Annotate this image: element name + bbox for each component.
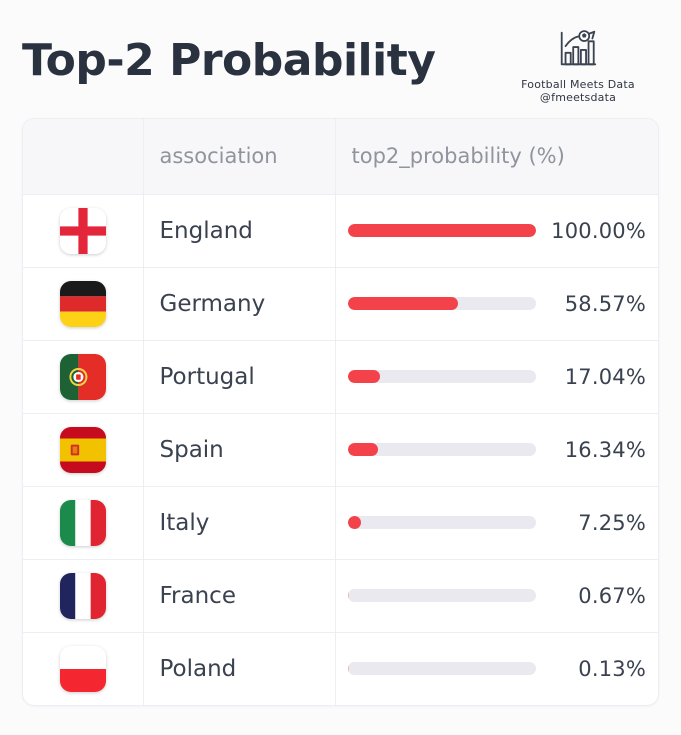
- column-header-flag: [23, 119, 143, 194]
- probability-table-container: association top2_probability (%) England…: [22, 118, 659, 706]
- flag-france-icon: [60, 573, 106, 619]
- table-row: Spain 16.34%: [23, 413, 659, 486]
- probability-bar-fill: [348, 589, 349, 602]
- brand-block: Football Meets Data @fmeetsdata: [503, 22, 653, 104]
- cell-association: Spain: [143, 413, 335, 486]
- probability-value: 0.67%: [548, 584, 647, 608]
- probability-value: 16.34%: [548, 438, 647, 462]
- cell-association: Germany: [143, 267, 335, 340]
- table-body: England 100.00% Germany 58.57%: [23, 194, 659, 705]
- probability-bar-fill: [348, 224, 536, 237]
- probability-bar-fill: [348, 370, 380, 383]
- cell-probability: 16.34%: [335, 413, 659, 486]
- cell-flag: [23, 267, 143, 340]
- brand-handle: @fmeetsdata: [540, 91, 616, 104]
- brand-name: Football Meets Data: [521, 78, 635, 91]
- table-row: Poland 0.13%: [23, 632, 659, 705]
- cell-association: Poland: [143, 632, 335, 705]
- cell-flag: [23, 194, 143, 267]
- table-row: England 100.00%: [23, 194, 659, 267]
- probability-bar-track: [348, 224, 536, 237]
- cell-probability: 58.57%: [335, 267, 659, 340]
- probability-value: 0.13%: [548, 657, 647, 681]
- cell-association: Portugal: [143, 340, 335, 413]
- table-row: France 0.67%: [23, 559, 659, 632]
- flag-germany-icon: [60, 281, 106, 327]
- probability-bar-track: [348, 297, 536, 310]
- probability-table: association top2_probability (%) England…: [23, 119, 659, 705]
- cell-association: France: [143, 559, 335, 632]
- flag-england-icon: [60, 208, 106, 254]
- flag-italy-icon: [60, 500, 106, 546]
- page-title: Top-2 Probability: [22, 22, 435, 87]
- probability-bar-track: [348, 370, 536, 383]
- cell-probability: 17.04%: [335, 340, 659, 413]
- cell-flag: [23, 632, 143, 705]
- probability-value: 58.57%: [548, 292, 647, 316]
- table-header-row: association top2_probability (%): [23, 119, 659, 194]
- page-header: Top-2 Probability Football Meets: [0, 0, 681, 118]
- bar-chart-football-icon: [555, 26, 601, 72]
- cell-probability: 100.00%: [335, 194, 659, 267]
- probability-bar-track: [348, 516, 536, 529]
- flag-poland-icon: [60, 646, 106, 692]
- probability-bar-fill: [348, 516, 362, 529]
- cell-probability: 0.67%: [335, 559, 659, 632]
- probability-bar-track: [348, 443, 536, 456]
- column-header-probability: top2_probability (%): [335, 119, 659, 194]
- column-header-association: association: [143, 119, 335, 194]
- cell-flag: [23, 559, 143, 632]
- cell-association: Italy: [143, 486, 335, 559]
- probability-bar-track: [348, 589, 536, 602]
- cell-flag: [23, 413, 143, 486]
- flag-spain-icon: [60, 427, 106, 473]
- cell-flag: [23, 340, 143, 413]
- flag-portugal-icon: [60, 354, 106, 400]
- probability-value: 100.00%: [548, 219, 647, 243]
- table-row: Germany 58.57%: [23, 267, 659, 340]
- cell-probability: 7.25%: [335, 486, 659, 559]
- probability-bar-fill: [348, 443, 379, 456]
- table-row: Italy 7.25%: [23, 486, 659, 559]
- cell-probability: 0.13%: [335, 632, 659, 705]
- probability-bar-fill: [348, 297, 458, 310]
- table-row: Portugal 17.04%: [23, 340, 659, 413]
- cell-association: England: [143, 194, 335, 267]
- probability-bar-track: [348, 662, 536, 675]
- probability-value: 17.04%: [548, 365, 647, 389]
- cell-flag: [23, 486, 143, 559]
- probability-value: 7.25%: [548, 511, 647, 535]
